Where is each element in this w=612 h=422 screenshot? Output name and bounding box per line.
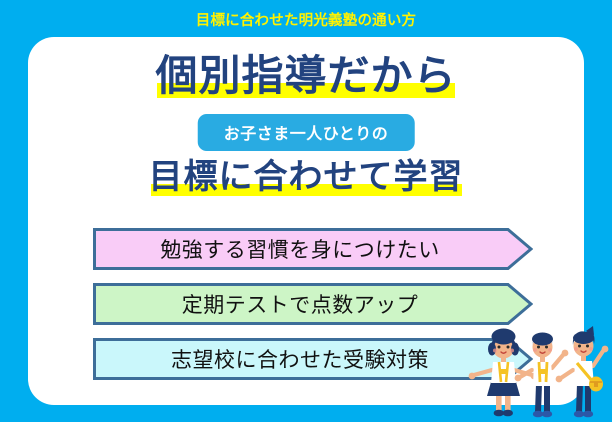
banner-label: 勉強する習慣を身につけたい	[160, 234, 466, 264]
boy-student-backpack-icon	[515, 333, 569, 418]
poster-root: 目標に合わせた明光義塾の通い方 個別指導だから お子さま一人ひとりの 目標に合わ…	[0, 0, 612, 422]
banner-item: 勉強する習慣を身につけたい	[93, 228, 533, 270]
badge-subtitle: お子さま一人ひとりの	[198, 114, 415, 151]
headline-1-inner: 個別指導だから	[155, 50, 456, 102]
headline-2: 目標に合わせて学習	[28, 155, 584, 199]
banner-label: 志望校に合わせた受験対策	[171, 344, 455, 374]
boy-student-sashbag-icon	[556, 326, 609, 417]
headline-2-inner: 目標に合わせて学習	[149, 155, 464, 199]
student-characters-group	[460, 322, 612, 422]
headline-1-text: 個別指導だから	[155, 51, 456, 100]
banner-item: 定期テストで点数アップ	[93, 283, 533, 325]
banner-label: 定期テストで点数アップ	[182, 289, 445, 319]
headline-1: 個別指導だから	[28, 50, 584, 102]
top-title: 目標に合わせた明光義塾の通い方	[0, 9, 612, 30]
headline-2-text: 目標に合わせて学習	[149, 157, 464, 197]
